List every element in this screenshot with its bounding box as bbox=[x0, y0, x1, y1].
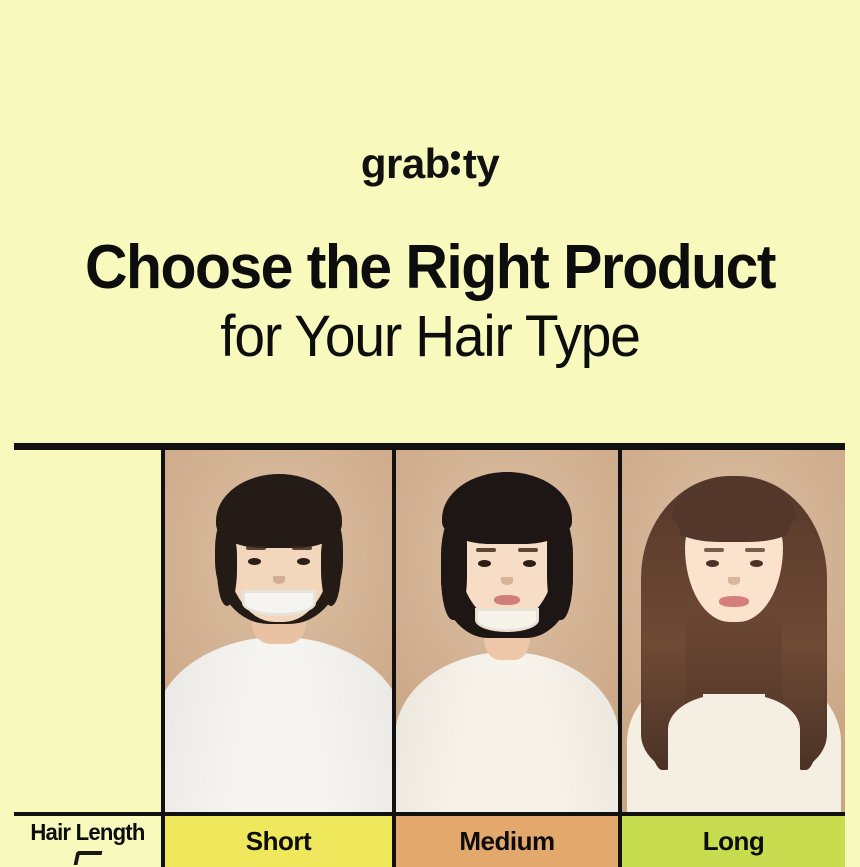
medium-hair-model-photo bbox=[396, 450, 618, 812]
value-cell-short-label: Short bbox=[246, 826, 311, 857]
long-hair-model-photo bbox=[622, 450, 845, 812]
value-cell-medium-label: Medium bbox=[459, 826, 554, 857]
row-label-text: Hair Length bbox=[30, 819, 144, 846]
hair-length-comparison-table: Hair Length Short Medium Long bbox=[14, 443, 845, 860]
colon-dots-icon bbox=[451, 148, 462, 178]
short-hair-model-photo bbox=[165, 450, 392, 812]
hair-length-row: Hair Length Short Medium Long bbox=[14, 812, 845, 867]
value-cell-long: Long bbox=[622, 816, 845, 867]
page-title: Choose the Right Product for Your Hair T… bbox=[0, 236, 860, 370]
brand-logo-text-end: ty bbox=[463, 140, 499, 187]
brand-logo-wordmark: grabty bbox=[361, 143, 499, 185]
poster-canvas: grabty Choose the Right Product for Your… bbox=[0, 0, 860, 860]
row-label-hair-length: Hair Length bbox=[14, 816, 165, 867]
photo-cell-short bbox=[165, 450, 396, 812]
row-label-accent-mark bbox=[73, 851, 102, 865]
headline-line-2: for Your Hair Type bbox=[22, 305, 839, 370]
brand-logo: grabty bbox=[0, 143, 860, 185]
photo-row bbox=[14, 450, 845, 812]
photo-cell-medium bbox=[396, 450, 622, 812]
label-column-spacer bbox=[14, 450, 165, 812]
photo-cell-long bbox=[622, 450, 845, 812]
brand-logo-text-start: grab bbox=[361, 140, 450, 187]
value-cell-medium: Medium bbox=[396, 816, 622, 867]
value-cell-short: Short bbox=[165, 816, 396, 867]
headline-line-1: Choose the Right Product bbox=[22, 236, 839, 299]
value-cell-long-label: Long bbox=[703, 826, 765, 857]
